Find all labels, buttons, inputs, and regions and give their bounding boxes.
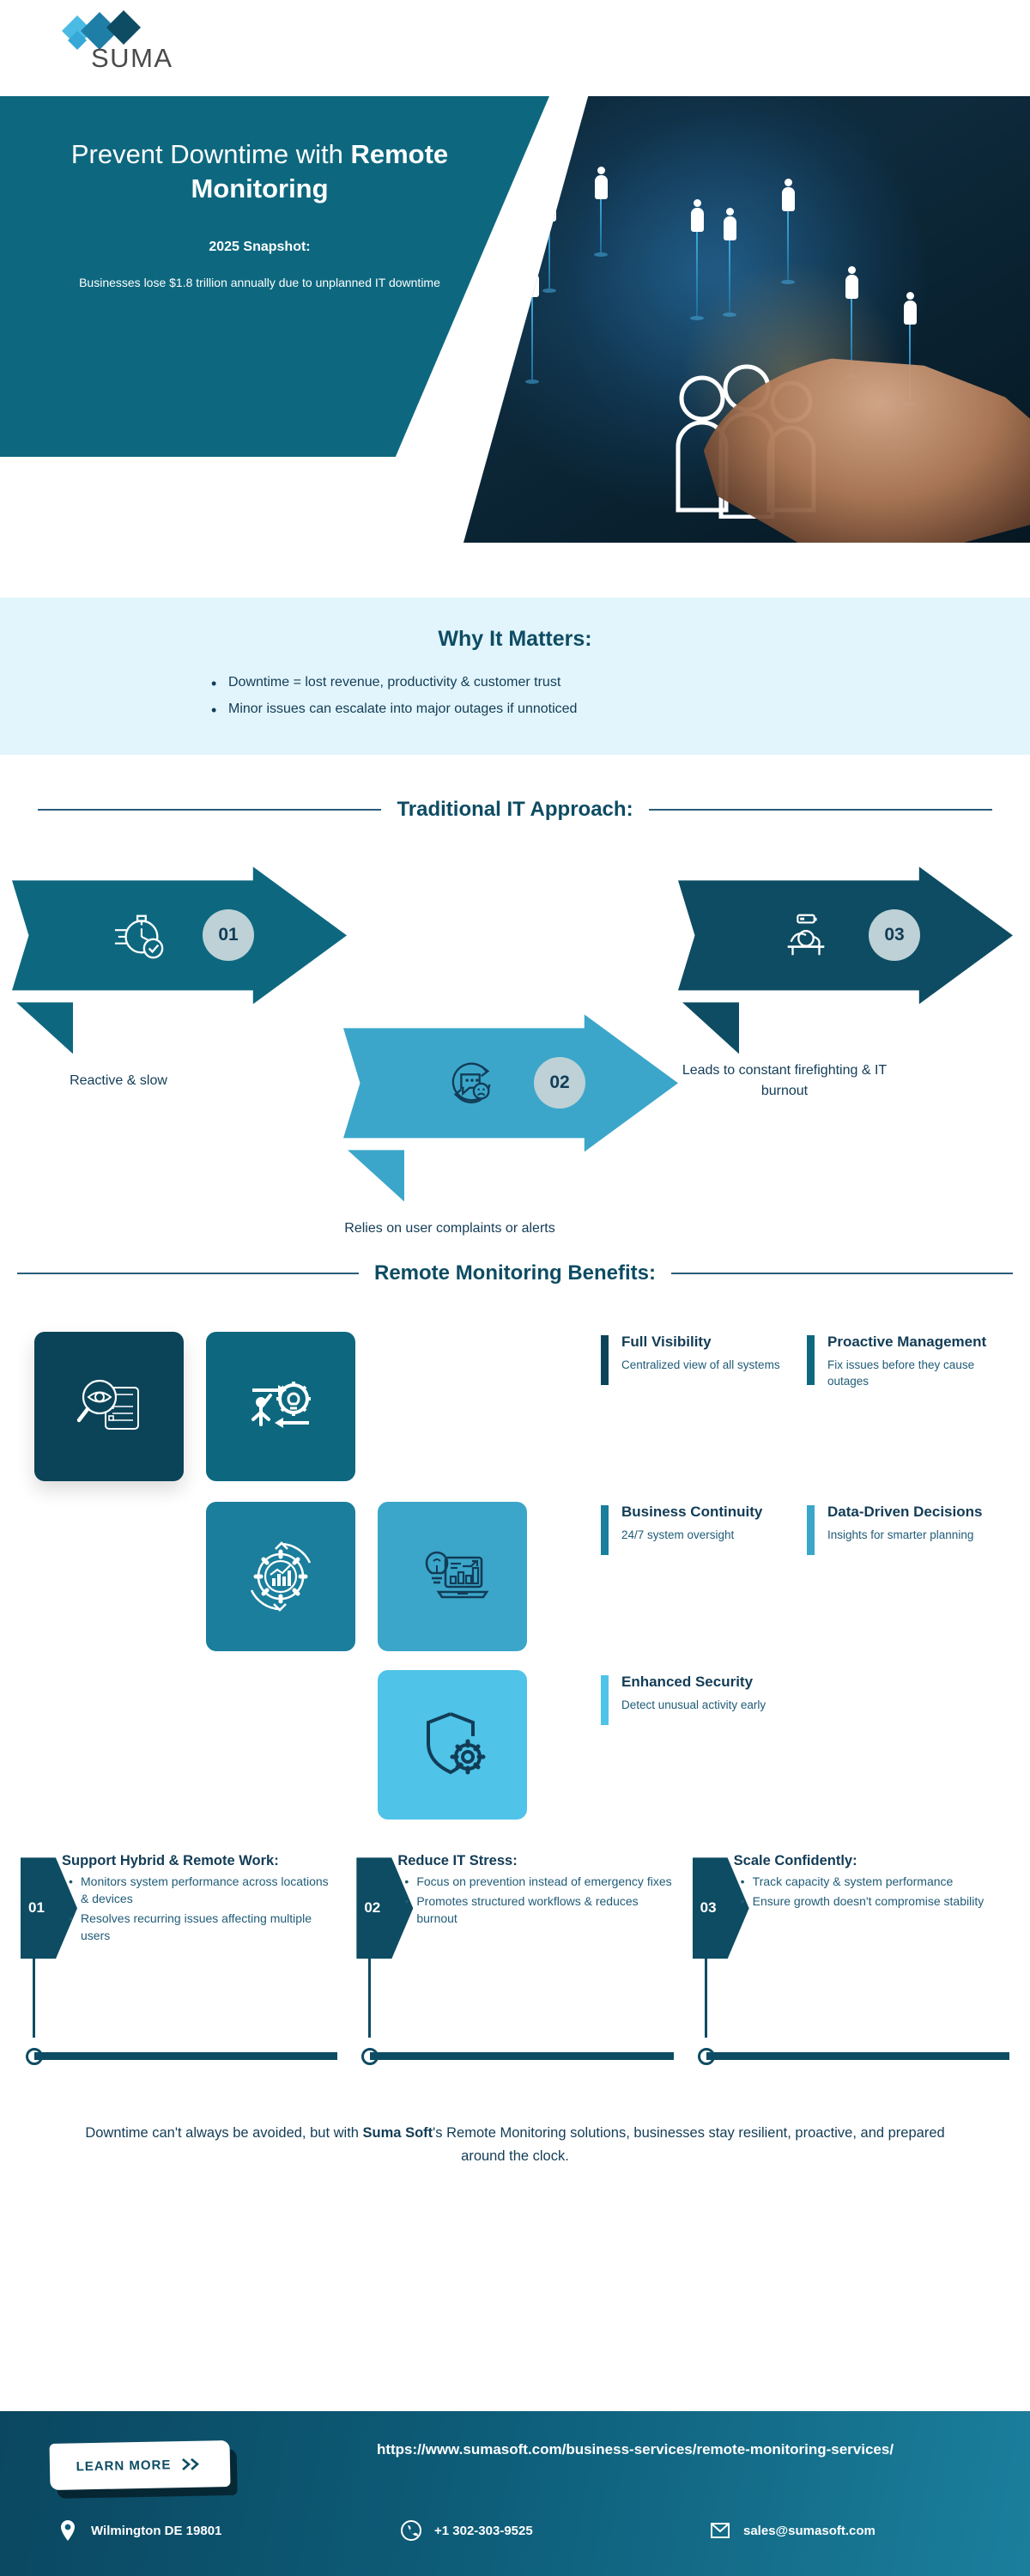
rule-right (671, 1273, 1013, 1274)
traditional-step-2[interactable]: 02 Relies on user complaints or alerts (343, 1014, 678, 1238)
benefit-desc: 24/7 system oversight (601, 1527, 803, 1543)
closing-part2: 's Remote Monitoring solutions, business… (433, 2125, 945, 2163)
phone-icon (400, 2519, 422, 2542)
step-number-badge: 03 (869, 909, 920, 961)
person-icon (690, 199, 704, 320)
learn-more-label: LEARN MORE (76, 2458, 171, 2474)
benefit-tile-proactive-management[interactable] (206, 1332, 355, 1481)
hero-text-block: Prevent Downtime with Remote Monitoring … (0, 96, 532, 293)
column-bullet-list: Monitors system performance across locat… (62, 1874, 337, 1945)
benefit-tile-data-driven-decisions[interactable] (378, 1502, 527, 1651)
step-number-badge: 02 (534, 1057, 585, 1109)
step-label: Relies on user complaints or alerts (338, 1218, 561, 1238)
footer-contacts: Wilmington DE 19801 +1 302-303-9525 sale… (0, 2519, 1030, 2542)
hero-snapshot-text: Businesses lose $1.8 trillion annually d… (47, 274, 472, 293)
gear-chart-cycle-icon (241, 1537, 320, 1616)
column-baseline (34, 2052, 337, 2060)
column-title: Scale Confidently: (734, 1852, 1009, 1870)
traditional-arrow-row: 01 Reactive & slow (0, 851, 1030, 1212)
hero-snapshot-label: 2025 Snapshot: (47, 240, 472, 255)
step-number-badge: 01 (203, 909, 254, 961)
benefit-card-data-driven-decisions: Data-Driven Decisions Insights for smart… (807, 1504, 1009, 1543)
brand-wordmark: SUMA (91, 43, 173, 74)
footer-phone[interactable]: +1 302-303-9525 (400, 2519, 709, 2542)
map-pin-icon (57, 2519, 79, 2542)
benefits-heading: Remote Monitoring Benefits: (374, 1261, 656, 1285)
why-bullet-list: Downtime = lost revenue, productivity & … (206, 669, 824, 722)
benefit-title: Proactive Management (807, 1334, 1009, 1352)
closing-statement: Downtime can't always be avoided, but wi… (0, 2122, 1030, 2167)
closing-part1: Downtime can't always be avoided, but wi… (85, 2125, 362, 2141)
email-text: sales@sumasoft.com (743, 2524, 875, 2538)
list-item: Minor issues can escalate into major out… (206, 696, 824, 722)
benefit-card-business-continuity: Business Continuity 24/7 system oversigh… (601, 1504, 803, 1543)
list-item: Promotes structured workflows & reduces … (416, 1893, 673, 1928)
list-item: Focus on prevention instead of emergency… (416, 1874, 673, 1891)
rule-left (17, 1273, 359, 1274)
lightbulb-laptop-chart-icon (413, 1537, 492, 1616)
phone-text: +1 302-303-9525 (434, 2524, 533, 2538)
traditional-heading: Traditional IT Approach: (397, 798, 633, 822)
benefit-title: Full Visibility (601, 1334, 803, 1352)
column-vertical-line (368, 1959, 371, 2038)
list-item: Track capacity & system performance (753, 1874, 1009, 1891)
benefit-tile-full-visibility[interactable] (34, 1332, 184, 1481)
envelope-icon (709, 2519, 731, 2542)
benefit-title: Business Continuity (601, 1504, 803, 1522)
column-vertical-line (705, 1959, 707, 2038)
arrow-tail-3 (682, 1002, 739, 1054)
why-heading: Why It Matters: (0, 627, 1030, 652)
shield-gear-icon (413, 1705, 492, 1784)
traditional-step-3[interactable]: 03 Leads to constant firefighting & IT b… (678, 866, 1013, 1100)
outcome-column-3: 03 Scale Confidently: Track capacity & s… (693, 1852, 1009, 2058)
column-bullet-list: Focus on prevention instead of emergency… (397, 1874, 673, 1928)
arrow-tail-2 (348, 1150, 404, 1201)
list-item: Downtime = lost revenue, productivity & … (206, 669, 824, 696)
person-gear-lightbulb-arrows-icon (242, 1368, 319, 1445)
column-title: Support Hybrid & Remote Work: (62, 1852, 337, 1870)
column-baseline (706, 2052, 1009, 2060)
person-icon (594, 167, 608, 257)
column-baseline (370, 2052, 673, 2060)
benefit-desc: Fix issues before they cause outages (807, 1357, 1009, 1389)
traditional-heading-row: Traditional IT Approach: (0, 798, 1030, 822)
benefit-tile-enhanced-security[interactable] (378, 1670, 527, 1820)
benefit-card-full-visibility: Full Visibility Centralized view of all … (601, 1334, 803, 1373)
arrow-shape-1: 01 (12, 866, 347, 1004)
accent-bar (807, 1335, 815, 1385)
arrow-shape-3: 03 (678, 866, 1013, 1004)
why-it-matters-section: Why It Matters: Downtime = lost revenue,… (0, 598, 1030, 755)
closing-brand: Suma Soft (363, 2125, 433, 2141)
header-logo-bar: SUMA (0, 0, 1030, 96)
learn-more-button[interactable]: LEARN MORE (50, 2440, 231, 2490)
hero-banner: Prevent Downtime with Remote Monitoring … (0, 96, 1030, 543)
rule-left (38, 809, 381, 811)
traditional-approach-section: Traditional IT Approach: 01 (0, 798, 1030, 1212)
footer-url[interactable]: https://www.sumasoft.com/business-servic… (360, 2439, 910, 2461)
person-icon (781, 179, 795, 284)
benefit-card-proactive-management: Proactive Management Fix issues before t… (807, 1334, 1009, 1389)
benefit-title: Data-Driven Decisions (807, 1504, 1009, 1522)
list-item: Ensure growth doesn't compromise stabili… (753, 1893, 1009, 1911)
step-label: Reactive & slow (7, 1071, 230, 1091)
location-text: Wilmington DE 19801 (91, 2524, 221, 2538)
stopwatch-check-icon (113, 908, 167, 962)
benefit-card-enhanced-security: Enhanced Security Detect unusual activit… (601, 1674, 841, 1713)
step-label: Leads to constant firefighting & IT burn… (673, 1060, 896, 1100)
footer-location: Wilmington DE 19801 (57, 2519, 400, 2542)
column-bullet-list: Track capacity & system performance Ensu… (734, 1874, 1009, 1911)
benefits-heading-row: Remote Monitoring Benefits: (0, 1261, 1030, 1285)
column-vertical-line (33, 1959, 35, 2038)
footer: LEARN MORE https://www.sumasoft.com/busi… (0, 2411, 1030, 2576)
hero-photo (463, 96, 1030, 543)
accent-bar (601, 1675, 609, 1725)
traditional-step-1[interactable]: 01 Reactive & slow (12, 866, 347, 1091)
outcome-column-1: 01 Support Hybrid & Remote Work: Monitor… (21, 1852, 337, 2058)
accent-bar (601, 1335, 609, 1385)
person-icon (723, 208, 736, 317)
person-icon (542, 189, 556, 293)
benefits-grid: Full Visibility Centralized view of all … (0, 1321, 1030, 1837)
arrow-shape-2: 02 (343, 1014, 678, 1151)
benefit-desc: Insights for smarter planning (807, 1527, 1009, 1543)
footer-email[interactable]: sales@sumasoft.com (709, 2519, 875, 2542)
accent-bar (601, 1505, 609, 1555)
benefit-desc: Detect unusual activity early (601, 1697, 841, 1713)
hero-title-plain: Prevent Downtime with (71, 139, 351, 169)
magnifier-eye-document-icon (71, 1369, 147, 1444)
benefit-title: Enhanced Security (601, 1674, 841, 1692)
chat-sad-face-cycle-icon (445, 1056, 498, 1109)
arrow-tail-1 (16, 1002, 73, 1054)
list-item: Monitors system performance across locat… (81, 1874, 337, 1908)
outcomes-columns: 01 Support Hybrid & Remote Work: Monitor… (0, 1852, 1030, 2058)
benefits-section: Remote Monitoring Benefits: (0, 1261, 1030, 1837)
benefit-tile-business-continuity[interactable] (206, 1502, 355, 1651)
hero-title: Prevent Downtime with Remote Monitoring (47, 137, 472, 205)
brand-logo[interactable]: SUMA (48, 9, 177, 88)
rule-right (649, 809, 992, 811)
double-chevron-right-icon (181, 2458, 203, 2471)
outcome-column-2: 02 Reduce IT Stress: Focus on prevention… (356, 1852, 673, 2058)
benefit-desc: Centralized view of all systems (601, 1357, 803, 1373)
column-title: Reduce IT Stress: (397, 1852, 673, 1870)
accent-bar (807, 1505, 815, 1555)
list-item: Resolves recurring issues affecting mult… (81, 1911, 337, 1945)
burnout-desk-battery-icon (779, 908, 833, 962)
